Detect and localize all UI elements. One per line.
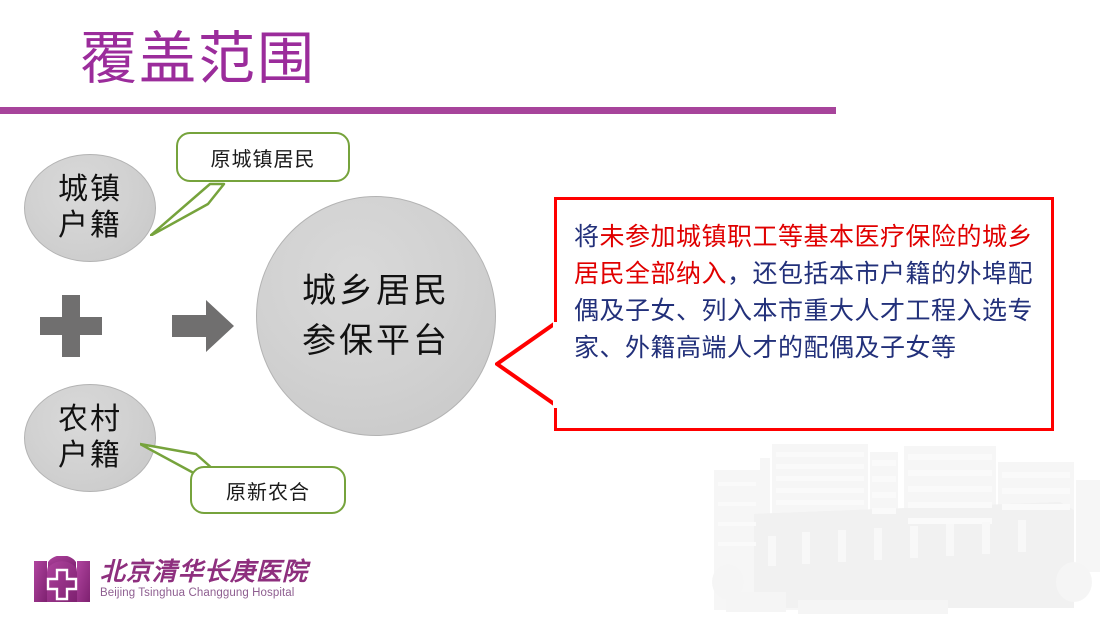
logo-text-block: 北京清华长庚医院 Beijing Tsinghua Changgung Hosp…	[100, 558, 308, 600]
circle-rural-line1: 农村	[58, 402, 122, 438]
page-title: 覆盖范围	[80, 28, 316, 90]
arrow-right-icon	[172, 300, 234, 352]
circle-platform-line2: 参保平台	[302, 316, 450, 366]
logo-name-chinese: 北京清华长庚医院	[100, 558, 308, 586]
red-box-pointer-arrow	[495, 322, 559, 408]
callout-rural-label: 原新农合	[226, 476, 310, 505]
callout-former-urban-residents[interactable]: 原城镇居民	[176, 132, 350, 182]
circle-urban-line1: 城镇	[58, 172, 122, 208]
hospital-building-watermark-image	[672, 432, 1104, 620]
title-divider-rule	[0, 107, 836, 114]
callout-former-rural-cooperative[interactable]: 原新农合	[190, 466, 346, 514]
circle-urban-line2: 户籍	[58, 208, 122, 244]
circle-platform-line1: 城乡居民	[302, 266, 450, 316]
red-box-description-text: 将未参加城镇职工等基本医疗保险的城乡居民全部纳入，还包括本市户籍的外埠配偶及子女…	[574, 218, 1036, 366]
hospital-cross-emblem-icon	[34, 556, 90, 602]
circle-urban-household[interactable]: 城镇 户籍	[24, 154, 156, 262]
circle-rural-line2: 户籍	[58, 438, 122, 474]
hospital-logo: 北京清华长庚医院 Beijing Tsinghua Changgung Hosp…	[34, 549, 294, 609]
circle-rural-household[interactable]: 农村 户籍	[24, 384, 156, 492]
circle-insurance-platform[interactable]: 城乡居民 参保平台	[256, 196, 496, 436]
plus-icon	[40, 295, 102, 357]
callout-urban-label: 原城镇居民	[211, 143, 316, 172]
logo-name-english: Beijing Tsinghua Changgung Hospital	[100, 586, 308, 600]
slide-canvas: 覆盖范围 城镇 户籍 农村 户籍 城乡居民 参保平台 原城镇居民 原新农合	[0, 0, 1104, 620]
red-box-segment-1: 将	[574, 222, 600, 251]
